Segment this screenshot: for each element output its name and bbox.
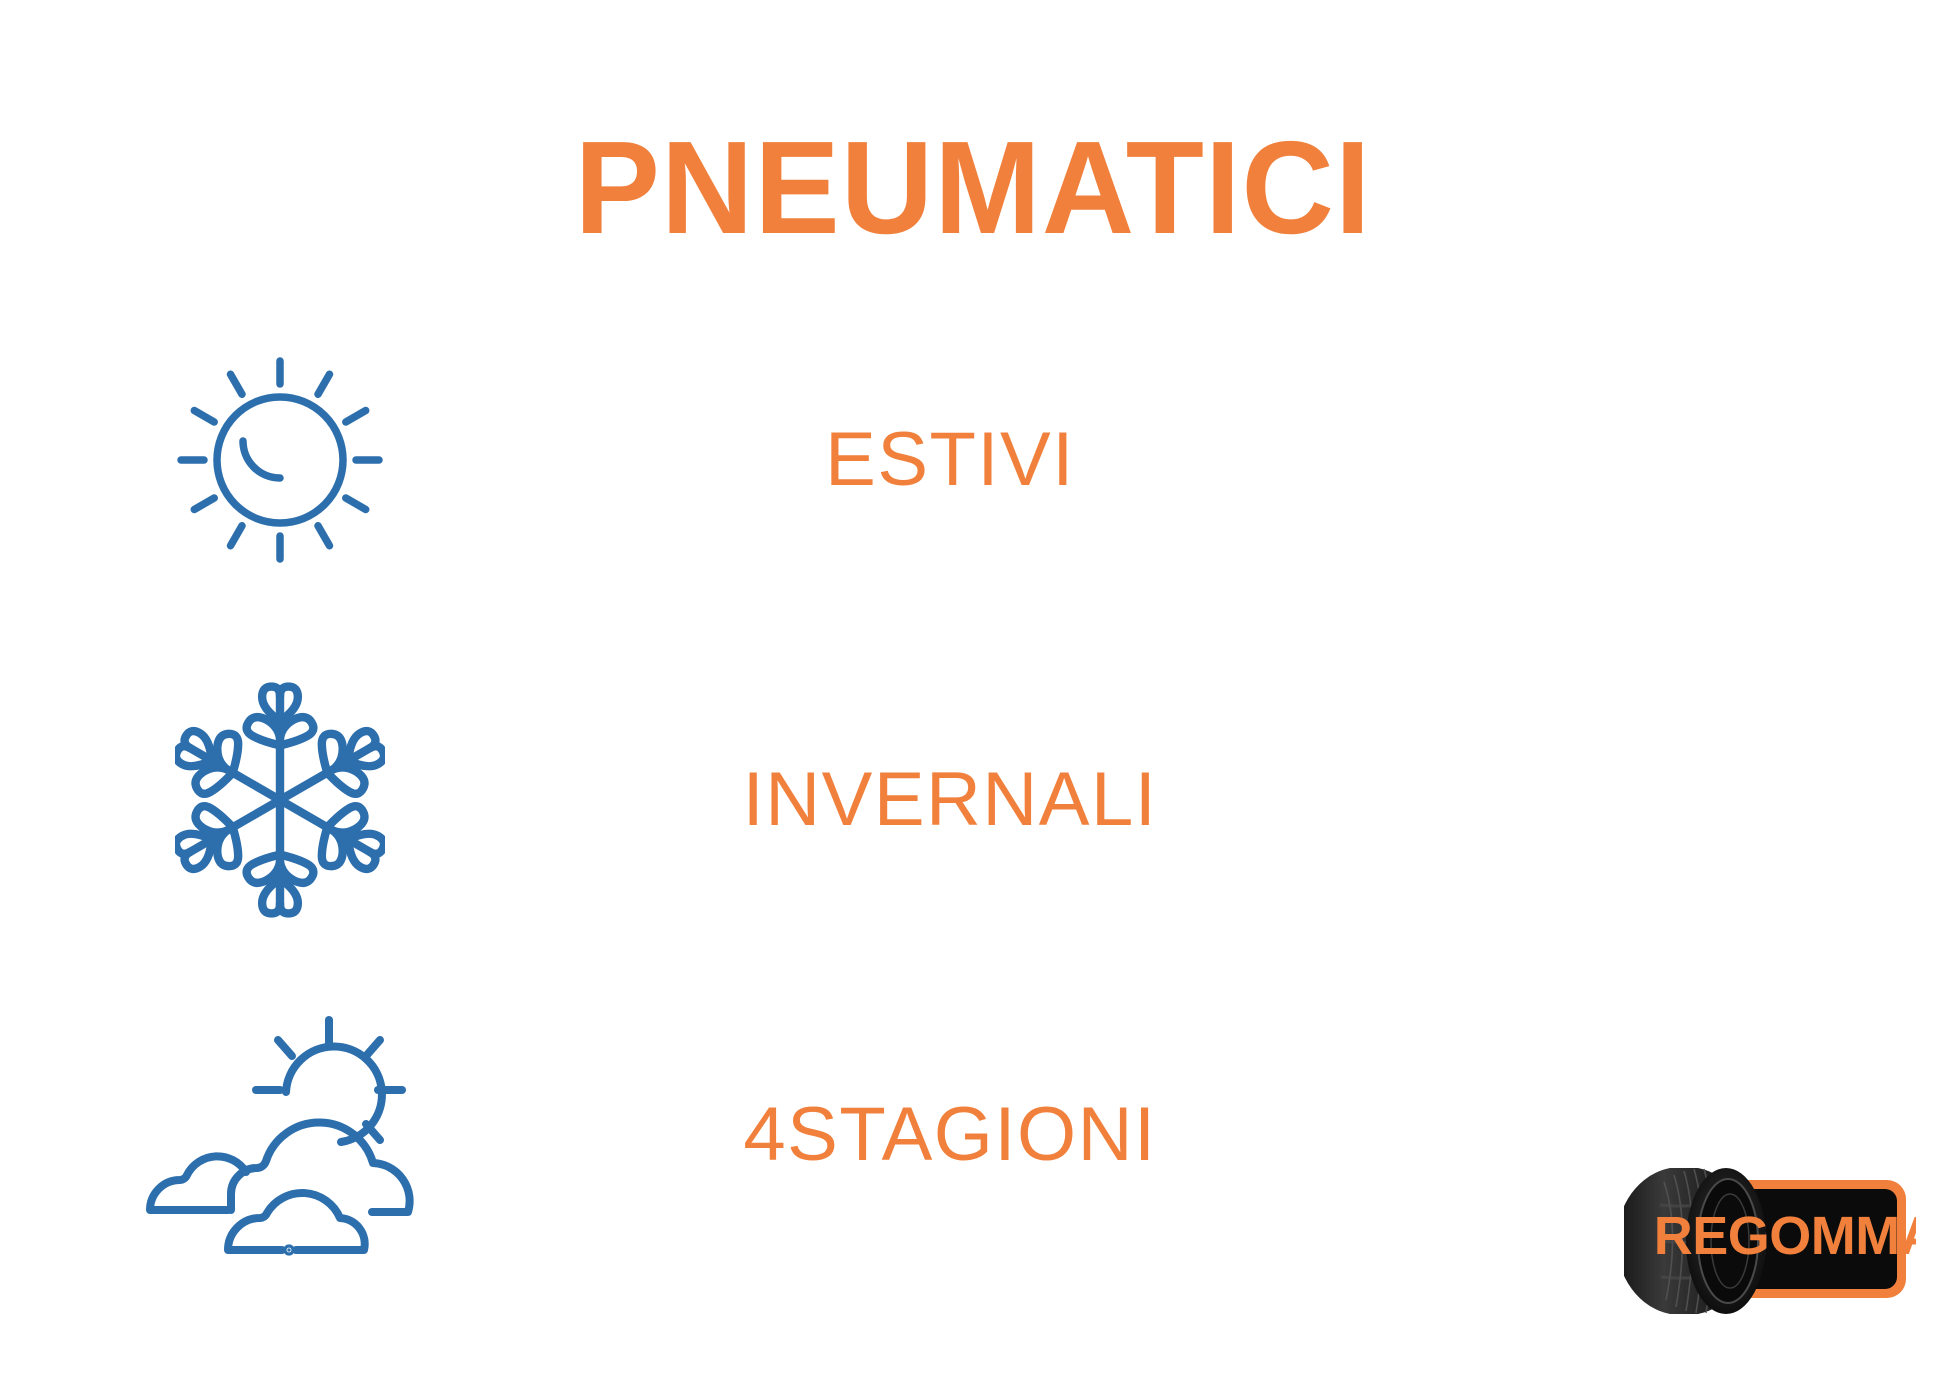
sun-behind-clouds-icon [0, 1005, 560, 1265]
category-row-4stagioni: 4STAGIONI [0, 1005, 1340, 1265]
category-label-invernali: INVERNALI [743, 760, 1158, 840]
page-title: PNEUMATICI [29, 118, 1917, 258]
logo-text: REGOMMA [1654, 1206, 1916, 1266]
snowflake-icon [0, 670, 560, 930]
category-row-invernali: INVERNALI [0, 670, 1340, 930]
category-label-cell-4stagioni: 4STAGIONI [560, 1005, 1340, 1265]
sun-icon [0, 330, 560, 590]
category-label-cell-invernali: INVERNALI [560, 670, 1340, 930]
category-label-cell-estivi: ESTIVI [560, 330, 1340, 590]
regomma-logo: REGOMMA [1624, 1150, 1916, 1332]
category-label-estivi: ESTIVI [825, 420, 1075, 500]
category-label-4stagioni: 4STAGIONI [743, 1095, 1156, 1175]
category-row-estivi: ESTIVI [0, 330, 1340, 590]
